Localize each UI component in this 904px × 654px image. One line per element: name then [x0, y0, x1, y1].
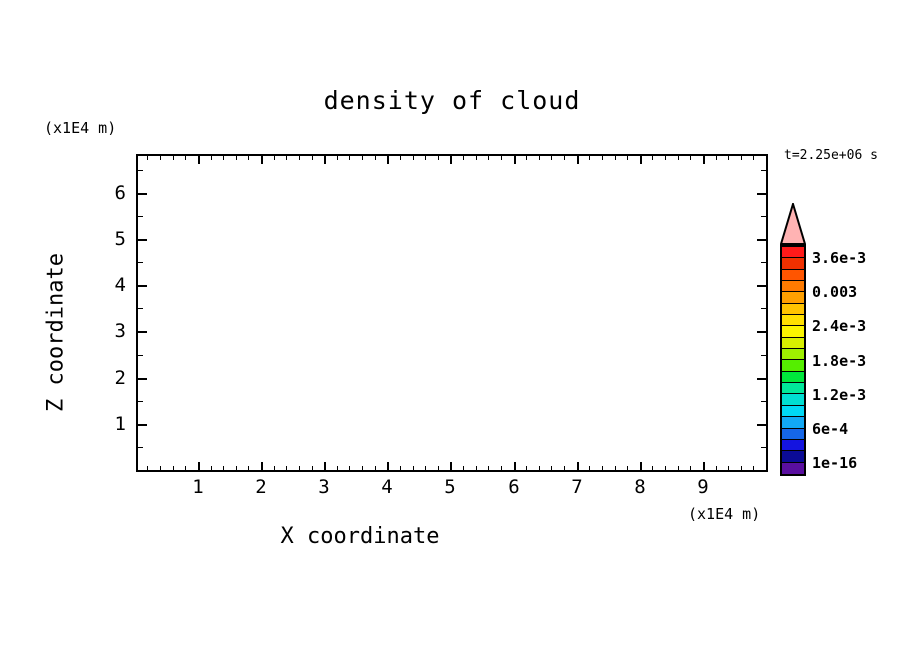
tick-mark — [703, 156, 705, 164]
tick-mark — [211, 466, 212, 470]
tick-mark — [761, 170, 766, 171]
tick-mark — [757, 193, 766, 195]
tick-mark — [757, 424, 766, 426]
tick-mark — [387, 462, 389, 470]
tick-mark — [652, 466, 653, 470]
colorbar-tick-label: 1e-16 — [812, 454, 857, 472]
x-tick-label: 6 — [508, 476, 519, 498]
tick-mark — [349, 466, 350, 470]
tick-mark — [753, 156, 754, 160]
x-tick-label: 1 — [192, 476, 203, 498]
tick-mark — [539, 466, 540, 470]
tick-mark — [757, 378, 766, 380]
tick-mark — [438, 156, 439, 160]
tick-mark — [564, 156, 565, 160]
tick-mark — [665, 156, 666, 160]
y-tick-label: 5 — [100, 228, 126, 250]
tick-mark — [138, 262, 143, 263]
colorbar-over-arrow — [780, 203, 806, 245]
tick-mark — [138, 401, 143, 402]
tick-mark — [362, 156, 363, 160]
tick-mark — [514, 462, 516, 470]
tick-mark — [413, 156, 414, 160]
colorbar-band — [782, 451, 804, 462]
tick-mark — [138, 285, 147, 287]
y-tick-label: 6 — [100, 182, 126, 204]
tick-mark — [526, 466, 527, 470]
y-tick-label: 2 — [100, 367, 126, 389]
tick-mark — [337, 466, 338, 470]
tick-mark — [488, 156, 489, 160]
tick-mark — [138, 216, 143, 217]
tick-mark — [362, 466, 363, 470]
colorbar-band — [782, 247, 804, 258]
tick-mark — [138, 239, 147, 241]
colorbar-band — [782, 394, 804, 405]
colorbar-band — [782, 383, 804, 394]
tick-mark — [615, 156, 616, 160]
y-tick-label: 1 — [100, 413, 126, 435]
tick-mark — [665, 466, 666, 470]
tick-mark — [160, 466, 161, 470]
tick-mark — [514, 156, 516, 164]
x-tick-label: 9 — [697, 476, 708, 498]
colorbar-tick-label: 6e-4 — [812, 420, 848, 438]
tick-mark — [138, 378, 147, 380]
tick-mark — [716, 156, 717, 160]
y-axis-title: Z coordinate — [44, 233, 69, 433]
tick-mark — [728, 466, 729, 470]
tick-mark — [640, 462, 642, 470]
tick-mark — [753, 466, 754, 470]
colorbar-band — [782, 463, 804, 474]
tick-mark — [425, 466, 426, 470]
tick-mark — [526, 156, 527, 160]
tick-mark — [173, 466, 174, 470]
tick-mark — [223, 156, 224, 160]
tick-mark — [501, 466, 502, 470]
tick-mark — [236, 466, 237, 470]
colorbar-band — [782, 417, 804, 428]
tick-mark — [248, 156, 249, 160]
x-tick-label: 8 — [634, 476, 645, 498]
tick-mark — [248, 466, 249, 470]
tick-mark — [138, 447, 143, 448]
tick-mark — [463, 156, 464, 160]
tick-mark — [761, 216, 766, 217]
tick-mark — [425, 156, 426, 160]
tick-mark — [551, 466, 552, 470]
tick-mark — [413, 466, 414, 470]
tick-mark — [173, 156, 174, 160]
tick-mark — [757, 331, 766, 333]
tick-mark — [551, 156, 552, 160]
tick-mark — [450, 462, 452, 470]
x-tick-label: 2 — [255, 476, 266, 498]
tick-mark — [757, 285, 766, 287]
tick-mark — [261, 462, 263, 470]
colorbar-tick-label: 0.003 — [812, 283, 857, 301]
colorbar-band — [782, 258, 804, 269]
tick-mark — [211, 156, 212, 160]
colorbar-band — [782, 440, 804, 451]
tick-mark — [627, 156, 628, 160]
tick-mark — [138, 355, 143, 356]
colorbar-band — [782, 429, 804, 440]
timestamp-label: t=2.25e+06 s — [784, 148, 878, 163]
tick-mark — [476, 466, 477, 470]
colorbar-band — [782, 338, 804, 349]
tick-mark — [589, 466, 590, 470]
tick-mark — [761, 308, 766, 309]
x-axis-unit-label: (x1E4 m) — [688, 505, 760, 523]
tick-mark — [299, 466, 300, 470]
tick-mark — [138, 424, 147, 426]
colorbar-band — [782, 281, 804, 292]
tick-mark — [476, 156, 477, 160]
x-tick-label: 5 — [444, 476, 455, 498]
tick-mark — [236, 156, 237, 160]
tick-mark — [463, 466, 464, 470]
tick-mark — [147, 466, 148, 470]
x-tick-label: 3 — [318, 476, 329, 498]
tick-mark — [286, 466, 287, 470]
plot-frame — [136, 154, 768, 472]
tick-mark — [589, 156, 590, 160]
tick-mark — [640, 156, 642, 164]
tick-mark — [690, 156, 691, 160]
tick-mark — [147, 156, 148, 160]
colorbar-tick-label: 1.2e-3 — [812, 386, 866, 404]
tick-mark — [312, 156, 313, 160]
tick-mark — [324, 462, 326, 470]
tick-mark — [678, 466, 679, 470]
tick-mark — [577, 462, 579, 470]
tick-mark — [602, 156, 603, 160]
tick-mark — [716, 466, 717, 470]
tick-mark — [400, 156, 401, 160]
tick-mark — [160, 156, 161, 160]
colorbar-band — [782, 349, 804, 360]
tick-mark — [324, 156, 326, 164]
tick-mark — [741, 156, 742, 160]
tick-mark — [652, 156, 653, 160]
tick-mark — [387, 156, 389, 164]
tick-mark — [337, 156, 338, 160]
colorbar-band — [782, 326, 804, 337]
tick-mark — [577, 156, 579, 164]
tick-mark — [223, 466, 224, 470]
tick-mark — [261, 156, 263, 164]
tick-mark — [690, 466, 691, 470]
tick-mark — [564, 466, 565, 470]
tick-mark — [627, 466, 628, 470]
tick-mark — [539, 156, 540, 160]
tick-mark — [198, 462, 200, 470]
y-tick-label: 3 — [100, 320, 126, 342]
colorbar-band — [782, 372, 804, 383]
colorbar-band — [782, 270, 804, 281]
tick-mark — [488, 466, 489, 470]
tick-mark — [501, 156, 502, 160]
tick-mark — [138, 193, 147, 195]
tick-mark — [138, 308, 143, 309]
colorbar-band — [782, 315, 804, 326]
tick-mark — [757, 239, 766, 241]
tick-mark — [274, 156, 275, 160]
tick-mark — [400, 466, 401, 470]
colorbar-band — [782, 360, 804, 371]
tick-mark — [286, 156, 287, 160]
tick-mark — [312, 466, 313, 470]
tick-mark — [375, 466, 376, 470]
tick-mark — [138, 331, 147, 333]
colorbar-tick-label: 3.6e-3 — [812, 249, 866, 267]
tick-mark — [761, 447, 766, 448]
tick-mark — [185, 156, 186, 160]
tick-mark — [138, 170, 143, 171]
colorbar-tick-label: 1.8e-3 — [812, 352, 866, 370]
tick-mark — [349, 156, 350, 160]
tick-mark — [438, 466, 439, 470]
colorbar-band — [782, 406, 804, 417]
tick-mark — [741, 466, 742, 470]
tick-mark — [678, 156, 679, 160]
tick-mark — [375, 156, 376, 160]
x-axis-title: X coordinate — [0, 524, 720, 549]
tick-mark — [602, 466, 603, 470]
chart-title: density of cloud — [0, 86, 904, 115]
tick-mark — [728, 156, 729, 160]
x-tick-label: 4 — [381, 476, 392, 498]
colorbar-band — [782, 292, 804, 303]
tick-mark — [761, 401, 766, 402]
colorbar-bands[interactable] — [780, 245, 806, 476]
tick-mark — [703, 462, 705, 470]
tick-mark — [274, 466, 275, 470]
colorbar-tick-label: 2.4e-3 — [812, 317, 866, 335]
tick-mark — [761, 355, 766, 356]
colorbar-band — [782, 304, 804, 315]
tick-mark — [185, 466, 186, 470]
tick-mark — [450, 156, 452, 164]
x-tick-label: 7 — [571, 476, 582, 498]
tick-mark — [198, 156, 200, 164]
y-axis-unit-label: (x1E4 m) — [44, 119, 116, 137]
tick-mark — [761, 262, 766, 263]
y-tick-label: 4 — [100, 274, 126, 296]
tick-mark — [299, 156, 300, 160]
tick-mark — [615, 466, 616, 470]
